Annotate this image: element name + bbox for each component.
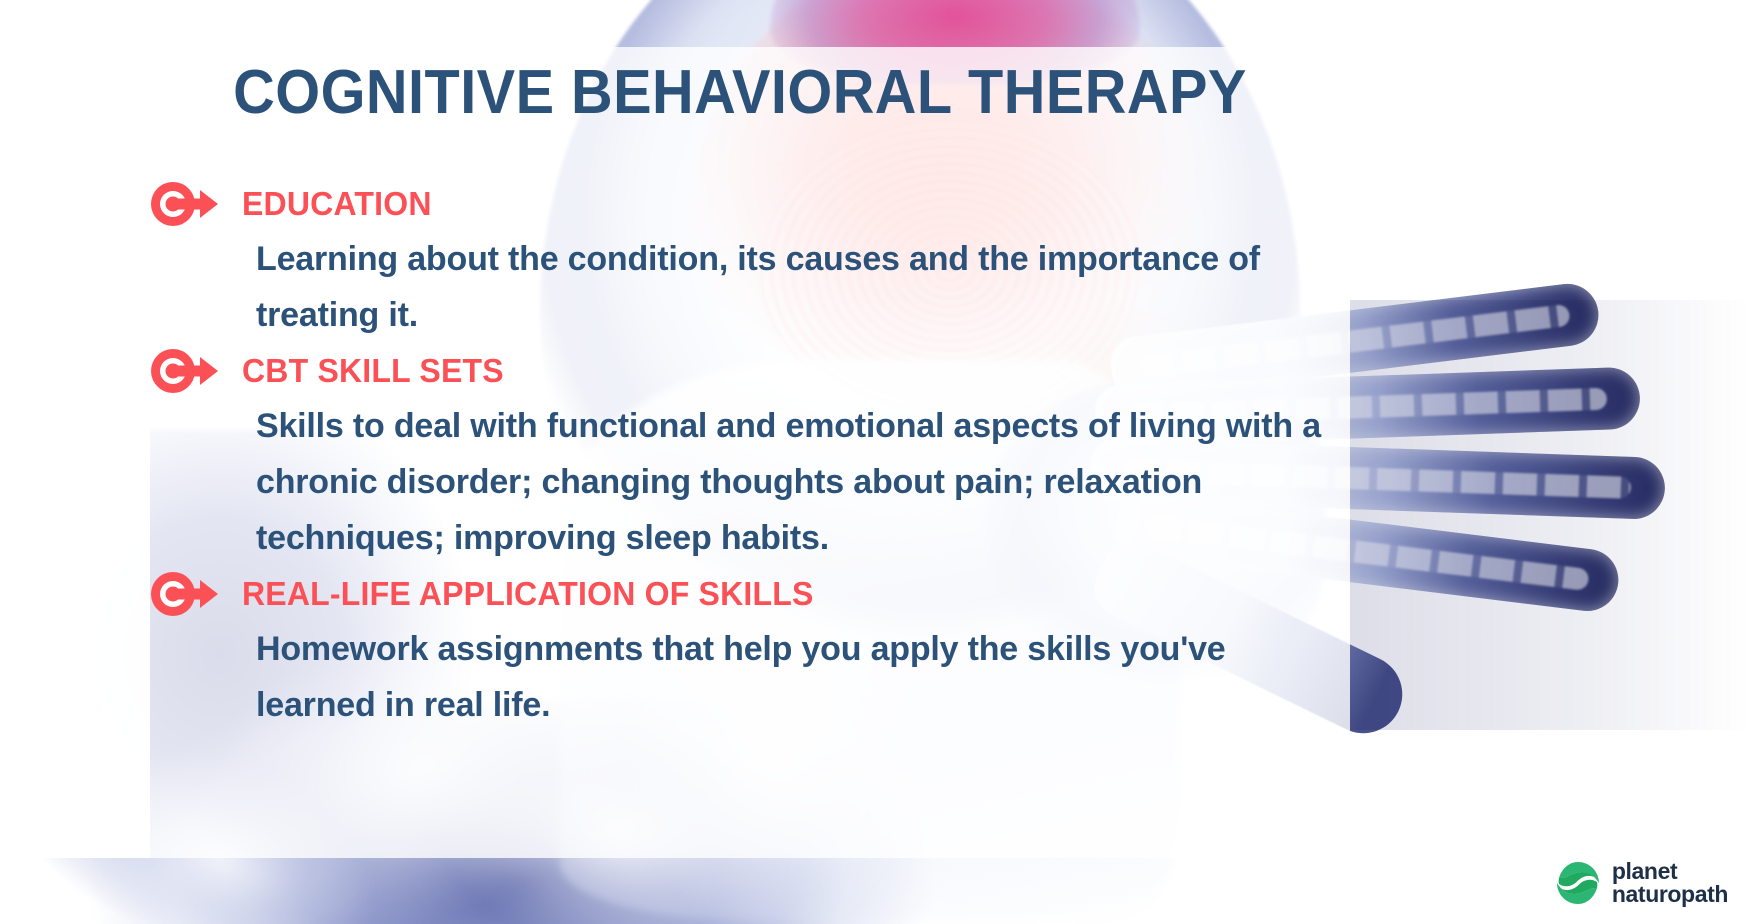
list-item-body: Learning about the condition, its causes… xyxy=(256,231,1350,343)
list-item-body: Skills to deal with functional and emoti… xyxy=(256,398,1350,566)
list-item-heading: REAL-LIFE APPLICATION OF SKILLS xyxy=(242,575,814,613)
logo-line-2: naturopath xyxy=(1612,883,1728,906)
infographic-canvas: COGNITIVE BEHAVIORAL THERAPY EDUCATIO xyxy=(0,0,1750,924)
list-item-header: EDUCATION xyxy=(150,178,1350,230)
benefits-list: EDUCATION Learning about the condition, … xyxy=(150,178,1350,735)
list-item: EDUCATION Learning about the condition, … xyxy=(150,178,1350,343)
content-area: COGNITIVE BEHAVIORAL THERAPY EDUCATIO xyxy=(0,0,1750,924)
target-arrow-icon xyxy=(150,181,228,227)
target-arrow-icon xyxy=(150,571,228,617)
logo-wordmark: planet naturopath xyxy=(1612,860,1728,906)
list-item: REAL-LIFE APPLICATION OF SKILLS Homework… xyxy=(150,568,1350,733)
page-title: COGNITIVE BEHAVIORAL THERAPY xyxy=(52,57,1428,128)
target-arrow-icon xyxy=(150,348,228,394)
list-item: CBT SKILL SETS Skills to deal with funct… xyxy=(150,345,1350,566)
brand-logo[interactable]: planet naturopath xyxy=(1555,860,1728,906)
list-item-header: CBT SKILL SETS xyxy=(150,345,1350,397)
list-item-body: Homework assignments that help you apply… xyxy=(256,621,1350,733)
list-item-heading: CBT SKILL SETS xyxy=(242,352,504,390)
planet-naturopath-leaf-circle-icon xyxy=(1555,860,1601,906)
list-item-header: REAL-LIFE APPLICATION OF SKILLS xyxy=(150,568,1350,620)
list-item-heading: EDUCATION xyxy=(242,185,432,223)
